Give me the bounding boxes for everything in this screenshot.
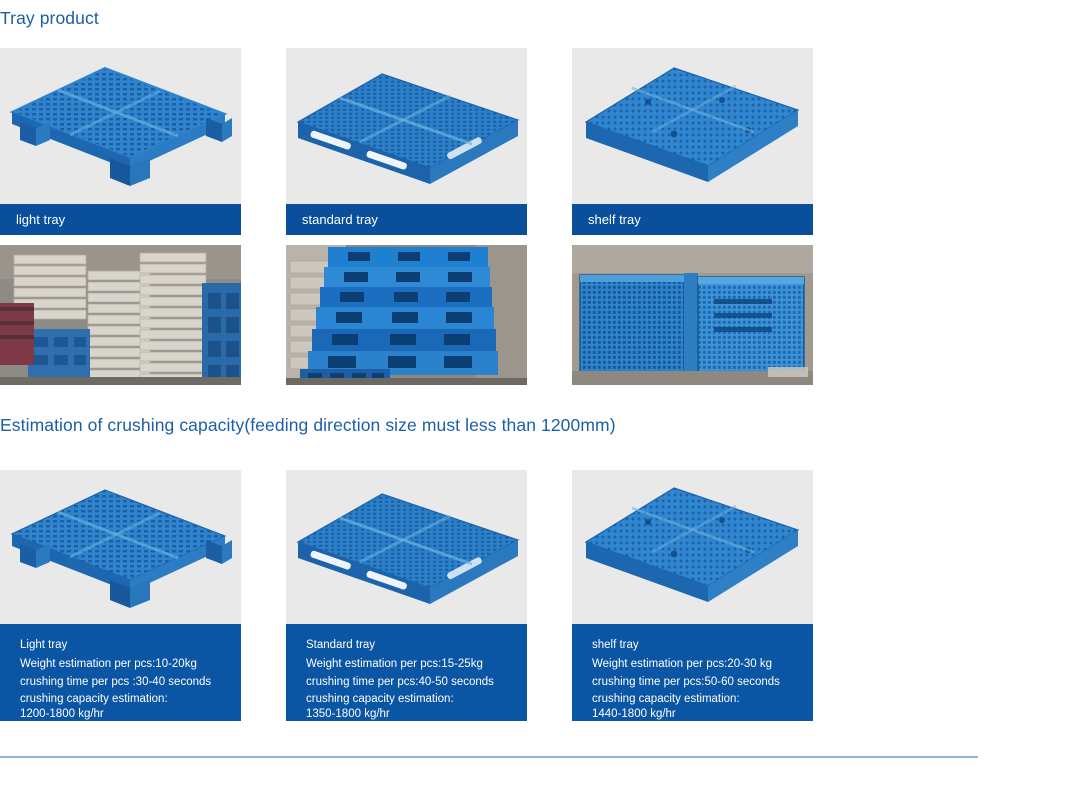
capacity-info-standard-tray: Standard tray Weight estimation per pcs:… — [286, 624, 527, 721]
warehouse-photo-pallet-bundles — [572, 245, 813, 385]
capacity-info-shelf-tray: shelf tray Weight estimation per pcs:20-… — [572, 624, 813, 721]
pallet-shelf-icon — [572, 470, 813, 624]
info-line: crushing time per pcs:40-50 seconds — [306, 673, 527, 692]
product-caption-standard-tray: standard tray — [286, 204, 527, 235]
info-line: Weight estimation per pcs:10-20kg — [20, 655, 241, 674]
info-line: 1440-1800 kg/hr — [592, 707, 813, 722]
info-line: Weight estimation per pcs:15-25kg — [306, 655, 527, 674]
warehouse-photo-blue-pallets — [286, 245, 527, 385]
info-line: crushing capacity estimation: — [306, 692, 527, 707]
product-caption-light-tray: light tray — [0, 204, 241, 235]
info-line: shelf tray — [592, 636, 813, 655]
pallet-light-icon — [0, 470, 241, 624]
info-line: crushing capacity estimation: — [20, 692, 241, 707]
pallet-standard-icon — [286, 470, 527, 624]
pallet-standard-icon — [286, 48, 527, 204]
pallet-shelf-icon — [572, 48, 813, 204]
info-line: crushing time per pcs :30-40 seconds — [20, 673, 241, 692]
info-line: Weight estimation per pcs:20-30 kg — [592, 655, 813, 674]
info-line: Standard tray — [306, 636, 527, 655]
page-root: Tray product — [0, 0, 1087, 804]
capacity-tile-standard-tray[interactable]: Standard tray Weight estimation per pcs:… — [286, 470, 527, 721]
product-tile-shelf-tray[interactable]: shelf tray — [572, 48, 813, 235]
pallet-light-icon — [0, 48, 241, 204]
info-line: 1350-1800 kg/hr — [306, 707, 527, 722]
capacity-tile-light-tray[interactable]: Light tray Weight estimation per pcs:10-… — [0, 470, 241, 721]
product-tile-standard-tray[interactable]: standard tray — [286, 48, 527, 235]
section-heading-crushing-capacity: Estimation of crushing capacity(feeding … — [0, 415, 616, 436]
product-tile-light-tray[interactable]: light tray — [0, 48, 241, 235]
warehouse-photo-white-pallets — [0, 245, 241, 385]
product-caption-shelf-tray: shelf tray — [572, 204, 813, 235]
info-line: crushing time per pcs:50-60 seconds — [592, 673, 813, 692]
section-heading-tray-product: Tray product — [0, 8, 99, 29]
section-divider — [0, 756, 978, 758]
info-line: Light tray — [20, 636, 241, 655]
capacity-tile-shelf-tray[interactable]: shelf tray Weight estimation per pcs:20-… — [572, 470, 813, 721]
info-line: 1200-1800 kg/hr — [20, 707, 241, 722]
capacity-info-light-tray: Light tray Weight estimation per pcs:10-… — [0, 624, 241, 721]
info-line: crushing capacity estimation: — [592, 692, 813, 707]
